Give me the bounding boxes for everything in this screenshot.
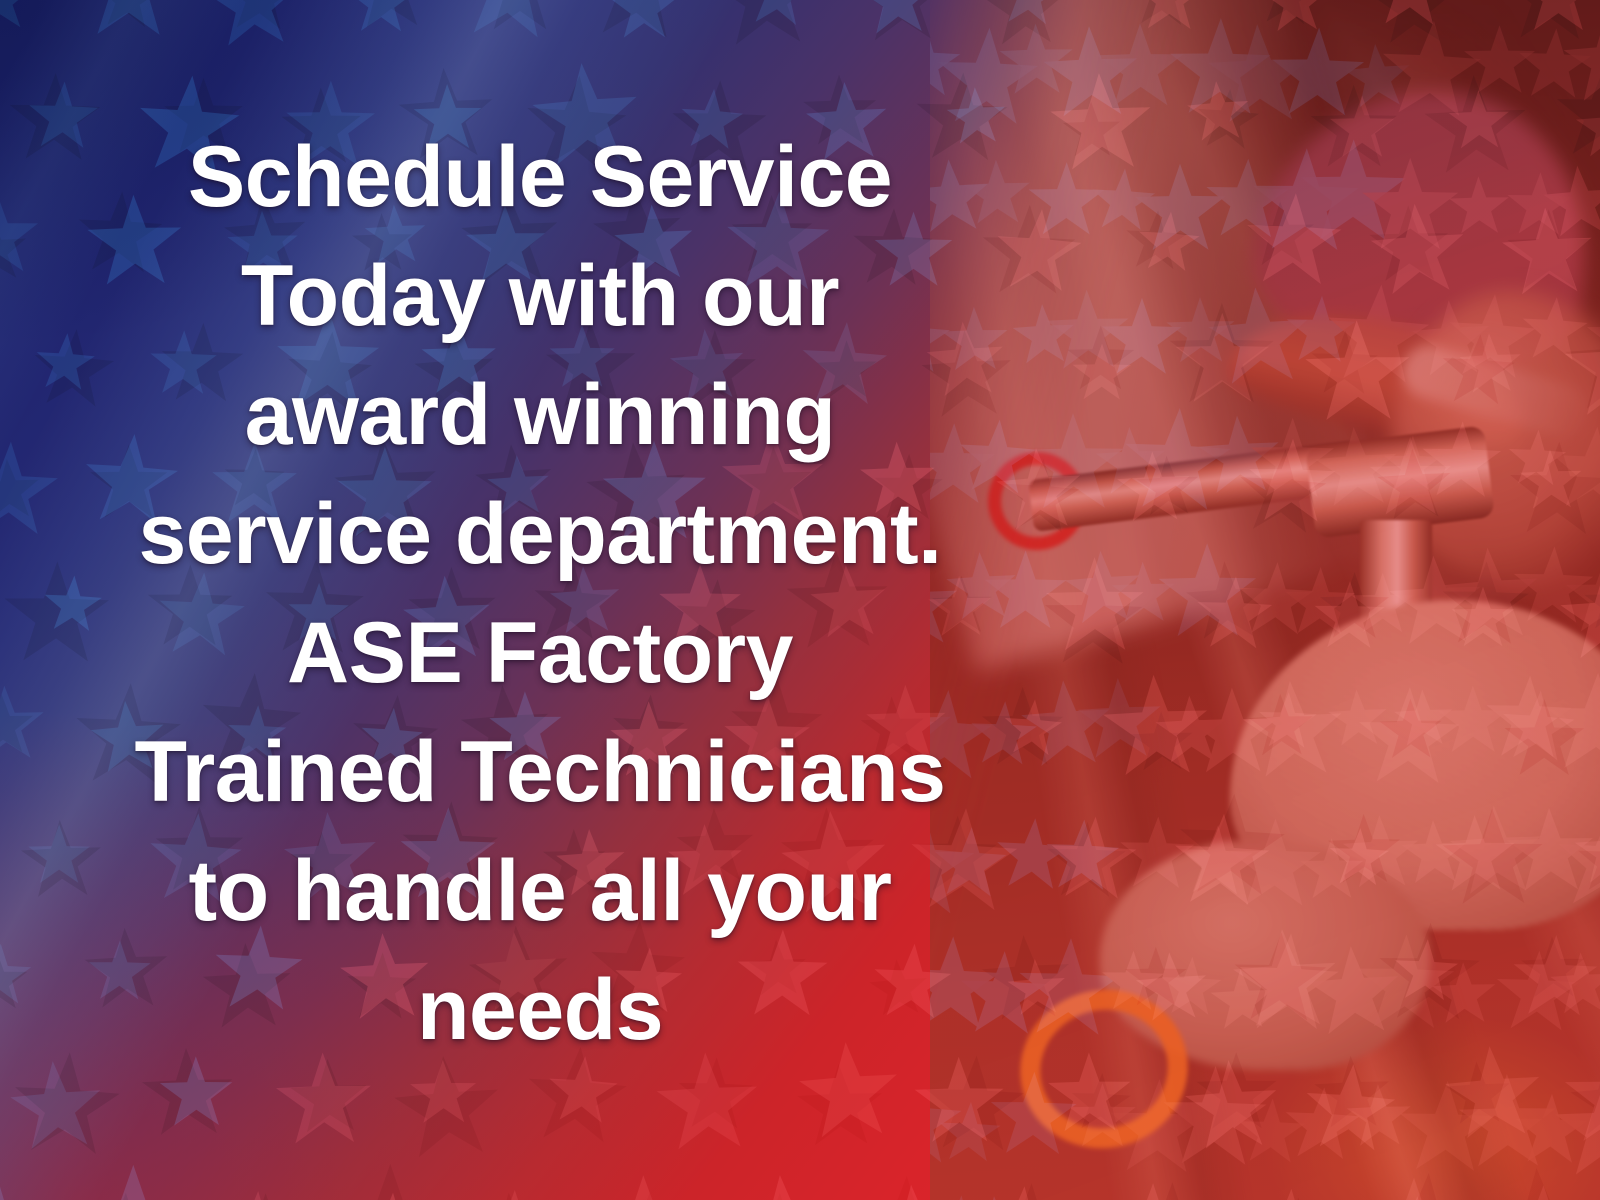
headline-block: Schedule Service Today with our award wi… — [0, 0, 1080, 1200]
headline-line-7: to handle all your — [189, 832, 892, 951]
headline-line-6: Trained Technicians — [135, 713, 946, 832]
headline-line-5: ASE Factory — [287, 594, 793, 713]
headline-line-2: Today with our — [241, 237, 839, 356]
headline-line-1: Schedule Service — [188, 118, 892, 237]
headline-line-8: needs — [417, 951, 663, 1070]
headline-line-4: service department. — [138, 475, 941, 594]
headline-line-3: award winning — [245, 356, 836, 475]
service-promo-banner: Schedule Service Today with our award wi… — [0, 0, 1600, 1200]
